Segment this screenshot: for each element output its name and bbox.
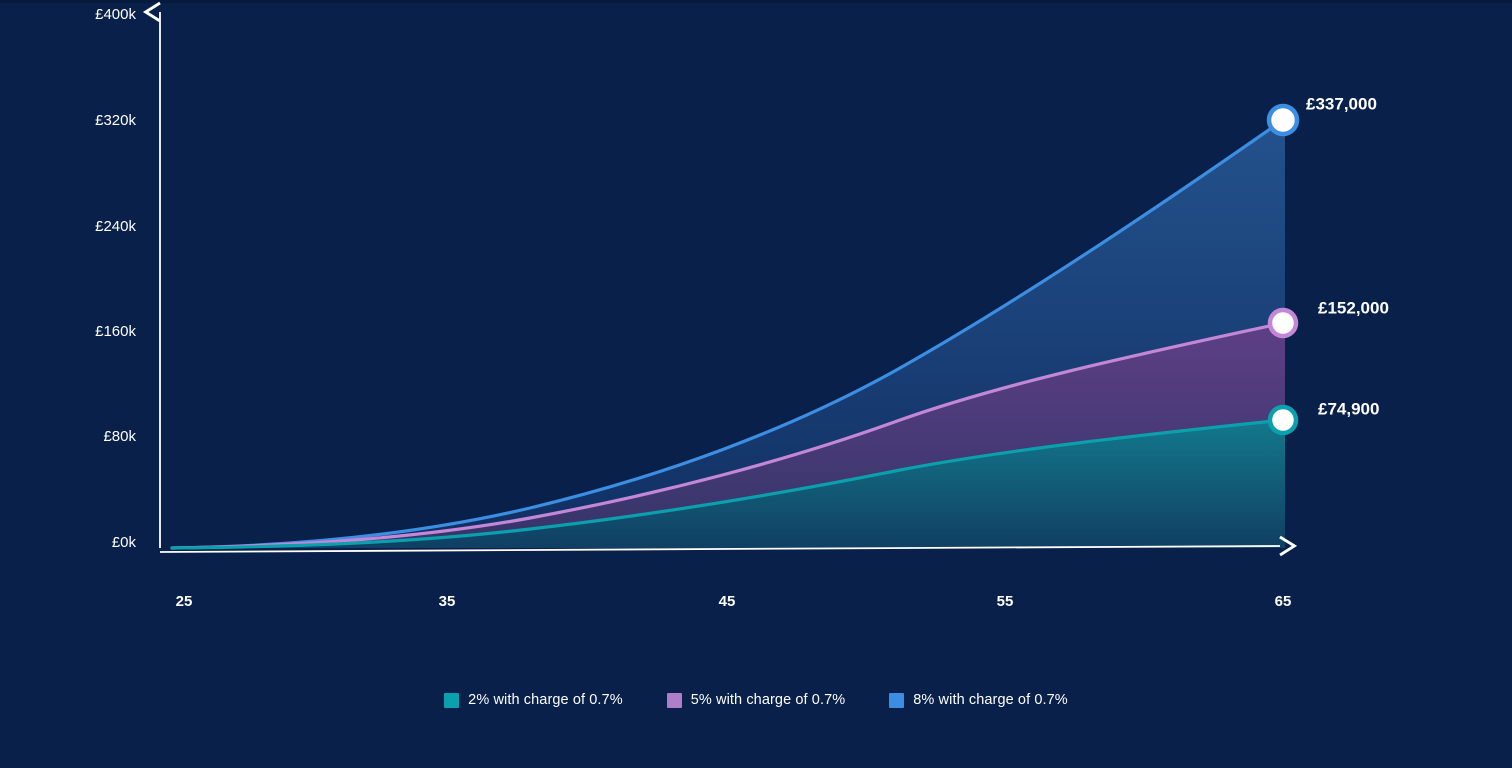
area-fills: [172, 120, 1285, 548]
y-tick-label: £400k: [95, 6, 136, 23]
value-label-2pct: £74,900: [1318, 399, 1379, 418]
legend-item-2pct[interactable]: 2% with charge of 0.7%: [444, 692, 623, 708]
legend-swatch-icon: [667, 693, 682, 708]
x-axis-tick-labels: 25 35 45 55 65: [176, 593, 1292, 610]
legend-item-8pct[interactable]: 8% with charge of 0.7%: [889, 692, 1068, 708]
y-tick-label: £0k: [112, 534, 137, 551]
endpoint-marker-2pct[interactable]: [1270, 407, 1296, 433]
x-tick-label: 35: [439, 593, 456, 610]
x-tick-label: 55: [997, 593, 1014, 610]
y-tick-label: £320k: [95, 112, 136, 129]
y-axis-tick-labels: £400k £320k £240k £160k £80k £0k: [95, 6, 136, 551]
legend-item-label: 2% with charge of 0.7%: [468, 692, 623, 708]
growth-projection-chart: £337,000 £152,000 £74,900 £400k £320k £2…: [0, 0, 1512, 768]
endpoint-marker-5pct[interactable]: [1270, 310, 1296, 336]
chart-canvas: £337,000 £152,000 £74,900 £400k £320k £2…: [0, 0, 1512, 768]
legend-swatch-icon: [889, 693, 904, 708]
legend-item-5pct[interactable]: 5% with charge of 0.7%: [667, 692, 846, 708]
y-tick-label: £80k: [103, 428, 136, 445]
value-label-8pct: £337,000: [1306, 94, 1377, 113]
y-tick-label: £240k: [95, 218, 136, 235]
endpoint-marker-8pct[interactable]: [1269, 106, 1297, 134]
x-tick-label: 45: [719, 593, 736, 610]
legend-swatch-icon: [444, 693, 459, 708]
value-labels: £337,000 £152,000 £74,900: [1306, 94, 1389, 418]
x-tick-label: 65: [1275, 593, 1292, 610]
legend-item-label: 8% with charge of 0.7%: [913, 692, 1068, 708]
y-tick-label: £160k: [95, 323, 136, 340]
x-tick-label: 25: [176, 593, 193, 610]
value-label-5pct: £152,000: [1318, 298, 1389, 317]
chart-legend: 2% with charge of 0.7% 5% with charge of…: [0, 692, 1512, 708]
legend-item-label: 5% with charge of 0.7%: [691, 692, 846, 708]
